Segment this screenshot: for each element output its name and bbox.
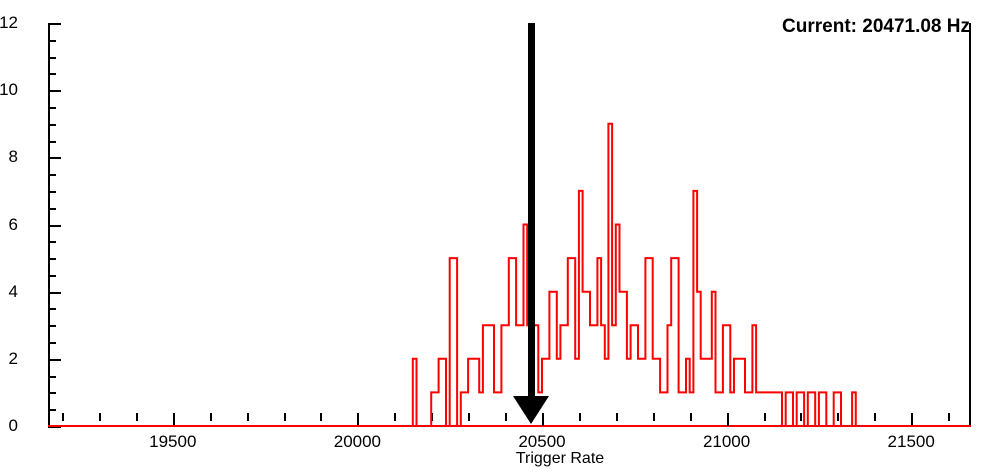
marker-arrowhead-icon xyxy=(513,396,549,424)
histogram-series xyxy=(0,0,996,472)
histogram-canvas: Current: 20471.08 Hz 024681012 195002000… xyxy=(0,0,996,472)
histogram-outline xyxy=(48,124,971,426)
marker-stem xyxy=(528,23,535,410)
